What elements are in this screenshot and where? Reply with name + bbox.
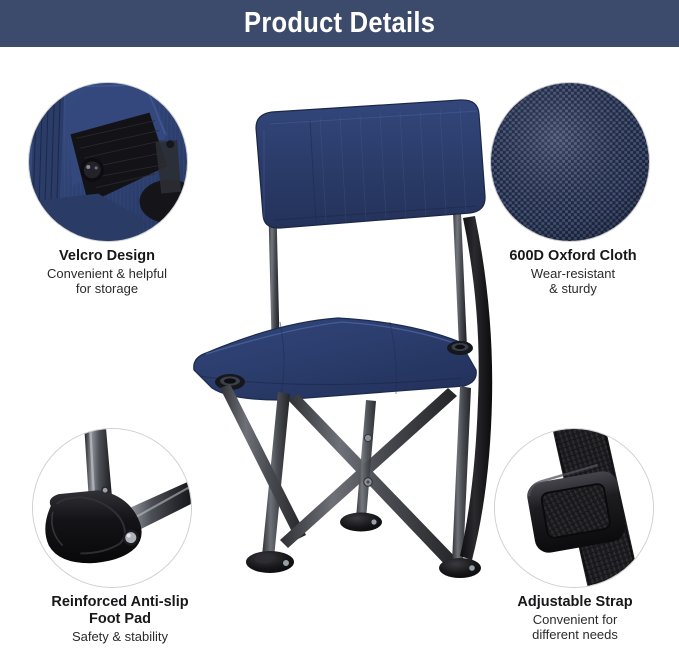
foot-pad-closeup-image xyxy=(32,428,192,588)
oxford-cloth-closeup-image xyxy=(490,82,650,242)
seat-grommet-right xyxy=(447,341,473,355)
callout-title: Velcro Design xyxy=(6,248,208,265)
chair-leg-frame xyxy=(220,384,481,578)
callout-oxford-cloth: 600D Oxford Cloth Wear-resistant & sturd… xyxy=(478,82,668,297)
callout-title: Reinforced Anti-slip Foot Pad xyxy=(14,594,226,628)
adjustable-strap-closeup-image xyxy=(494,428,654,588)
callout-subtitle: Convenient & helpful for storage xyxy=(6,266,208,297)
foot-pad-right xyxy=(439,558,481,578)
callout-adjustable-strap: Adjustable Strap Convenient for differen… xyxy=(480,428,670,643)
snap-button xyxy=(80,158,104,182)
callout-velcro-design: Velcro Design Convenient & helpful for s… xyxy=(12,82,208,297)
product-details-infographic: Product Details xyxy=(0,0,679,649)
callout-foot-pad: Reinforced Anti-slip Foot Pad Safety & s… xyxy=(14,428,226,644)
callout-strap-text: Adjustable Strap Convenient for differen… xyxy=(480,594,670,643)
page-title: Product Details xyxy=(244,7,435,40)
callout-footpad-text: Reinforced Anti-slip Foot Pad Safety & s… xyxy=(14,594,226,644)
header-banner: Product Details xyxy=(0,0,679,47)
callout-title: Adjustable Strap xyxy=(480,594,670,611)
chair-seat xyxy=(194,318,477,400)
foot-pad-center xyxy=(340,513,382,532)
velcro-closeup-image xyxy=(28,82,188,242)
callout-subtitle: Safety & stability xyxy=(14,629,226,645)
callout-subtitle: Wear-resistant & sturdy xyxy=(478,266,668,297)
callout-title: 600D Oxford Cloth xyxy=(478,248,668,265)
chair-backrest xyxy=(256,100,485,228)
callout-cloth-text: 600D Oxford Cloth Wear-resistant & sturd… xyxy=(478,248,668,297)
callout-velcro-text: Velcro Design Convenient & helpful for s… xyxy=(6,248,208,297)
callout-subtitle: Convenient for different needs xyxy=(480,612,670,643)
foot-pad-left xyxy=(246,551,294,573)
